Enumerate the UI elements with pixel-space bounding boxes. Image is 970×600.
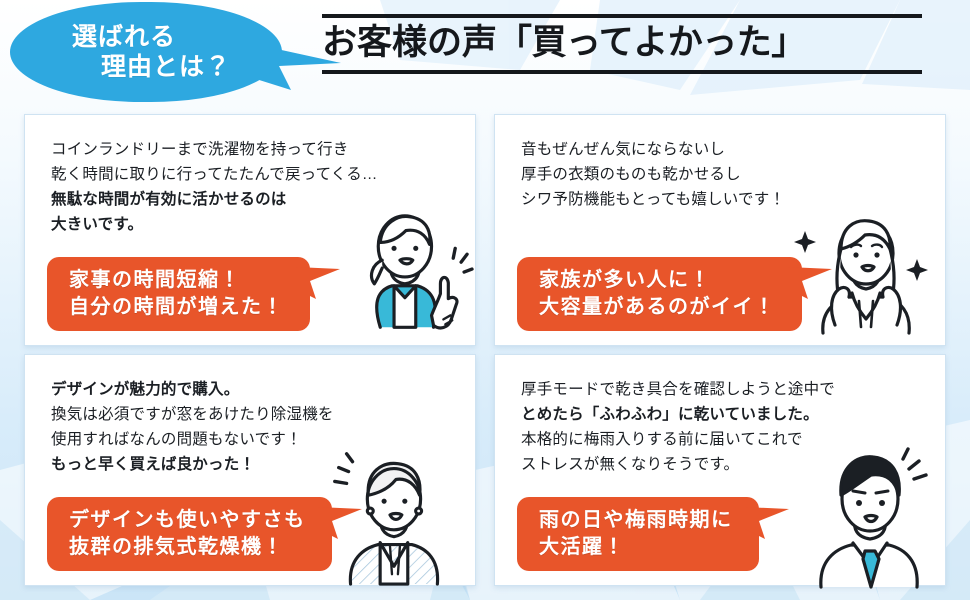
woman-pointing-up-icon <box>321 199 473 347</box>
highlight-callout: デザインも使いやすさも 抜群の排気式乾燥機！ <box>47 497 332 571</box>
bubble-line-1: 選ばれる <box>72 22 176 53</box>
page-title: お客様の声「買ってよかった」 <box>322 14 922 74</box>
callout-line: 大容量があるのがイイ！ <box>539 294 776 320</box>
highlight-callout: 雨の日や梅雨時期に 大活躍！ <box>517 497 759 571</box>
testimonial-banner: 選ばれる 理由とは？ お客様の声「買ってよかった」 コインランドリーまで洗濯物を… <box>0 0 970 600</box>
quote-line: デザインが魅力的で購入。 <box>51 377 463 402</box>
callout-line: 自分の時間が増えた！ <box>69 294 284 320</box>
man-with-tie-icon <box>793 433 943 591</box>
testimonial-card: 音もぜんぜん気にならないし 厚手の衣類のものも乾かせるし シワ予防機能もとっても… <box>494 114 946 346</box>
woman-short-hair-icon <box>317 435 465 591</box>
bubble-line-2: 理由とは？ <box>101 52 231 83</box>
woman-hands-on-cheeks-icon <box>789 197 939 347</box>
headline-plain: お客様の声 <box>322 23 497 62</box>
reason-bubble: 選ばれる 理由とは？ <box>10 2 282 102</box>
quote-line: 乾く時間に取りに行ってたたんで戻ってくる… <box>51 162 463 187</box>
quote-line: コインランドリーまで洗濯物を持って行き <box>51 137 463 162</box>
quote-line: 厚手の衣類のものも乾かせるし <box>521 162 933 187</box>
quote-line: とめたら「ふわふわ」に乾いていました。 <box>521 402 933 427</box>
testimonial-card: デザインが魅力的で購入。 換気は必須ですが窓をあけたり除湿機を 使用すればなんの… <box>24 354 476 586</box>
highlight-callout: 家事の時間短縮！ 自分の時間が増えた！ <box>47 257 310 331</box>
headline-strong: 「買ってよかった」 <box>497 23 806 62</box>
headline-text: お客様の声「買ってよかった」 <box>322 23 922 64</box>
testimonial-card: コインランドリーまで洗濯物を持って行き 乾く時間に取りに行ってたたんで戻ってくる… <box>24 114 476 346</box>
testimonial-grid: コインランドリーまで洗濯物を持って行き 乾く時間に取りに行ってたたんで戻ってくる… <box>24 114 946 586</box>
quote-line: 厚手モードで乾き具合を確認しようと途中で <box>521 377 933 402</box>
callout-line: 大活躍！ <box>539 534 733 560</box>
quote-line: 換気は必須ですが窓をあけたり除湿機を <box>51 402 463 427</box>
callout-line: 家事の時間短縮！ <box>69 267 284 293</box>
callout-tail <box>745 505 789 545</box>
quote-line: 音もぜんぜん気にならないし <box>521 137 933 162</box>
callout-line: 雨の日や梅雨時期に <box>539 507 733 533</box>
highlight-callout: 家族が多い人に！ 大容量があるのがイイ！ <box>517 257 802 331</box>
callout-line: 家族が多い人に！ <box>539 267 776 293</box>
callout-line: 抜群の排気式乾燥機！ <box>69 534 306 560</box>
callout-line: デザインも使いやすさも <box>69 507 306 533</box>
testimonial-card: 厚手モードで乾き具合を確認しようと途中で とめたら「ふわふわ」に乾いていました。… <box>494 354 946 586</box>
